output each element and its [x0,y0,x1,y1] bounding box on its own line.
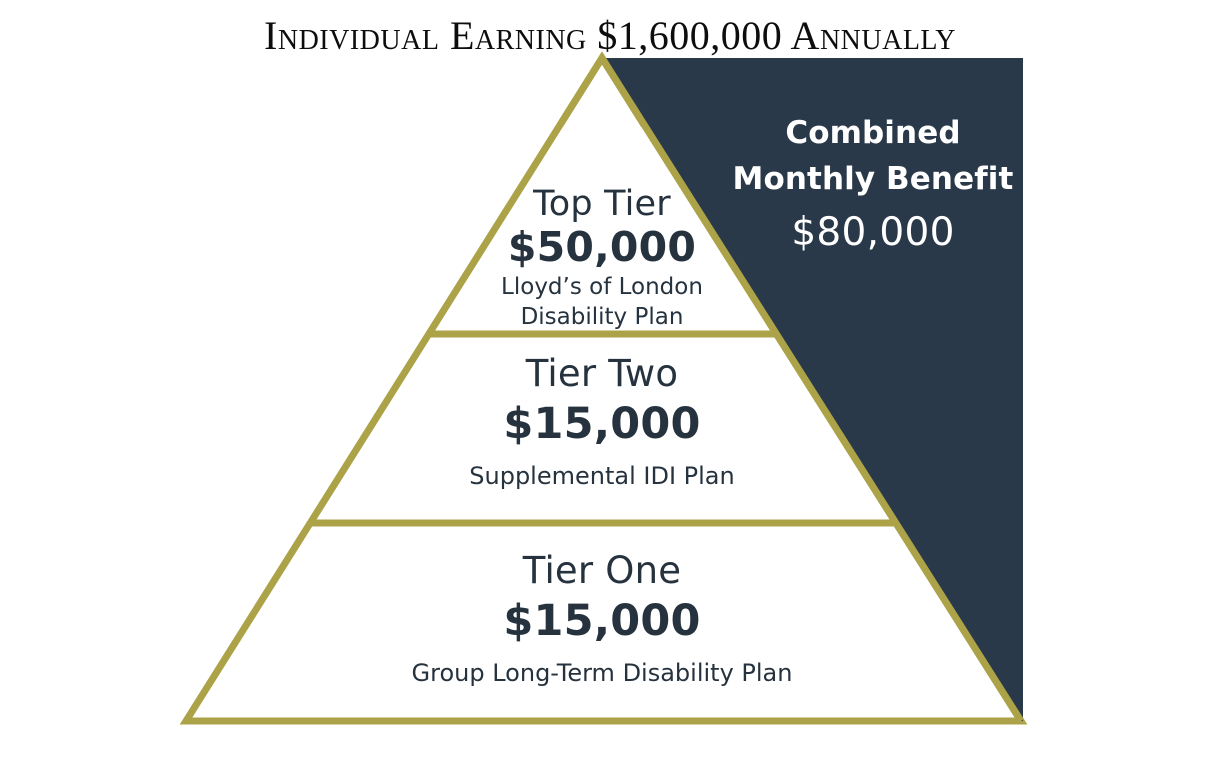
pyramid-infographic: Individual Earning $1,600,000 Annually T… [0,0,1220,760]
tier-tier-one-name: Tier One [352,549,852,593]
tier-tier-two-desc-1: Supplemental IDI Plan [402,462,802,491]
tier-tier-two: Tier Two $15,000 Supplemental IDI Plan [402,352,802,491]
tier-tier-one-desc-1: Group Long-Term Disability Plan [352,659,852,688]
combined-benefit-block: Combined Monthly Benefit $80,000 [703,110,1043,258]
tier-tier-one: Tier One $15,000 Group Long-Term Disabil… [352,549,852,688]
tier-top-tier-desc-1: Lloyd’s of London [402,274,802,301]
combined-benefit-label-2: Monthly Benefit [703,156,1043,202]
tier-tier-two-name: Tier Two [402,352,802,396]
combined-benefit-amount: $80,000 [703,208,1043,258]
tier-tier-two-amount: $15,000 [402,399,802,450]
tier-top-tier-desc-2: Disability Plan [402,304,802,331]
combined-benefit-label-1: Combined [703,110,1043,156]
tier-tier-one-amount: $15,000 [352,596,852,647]
